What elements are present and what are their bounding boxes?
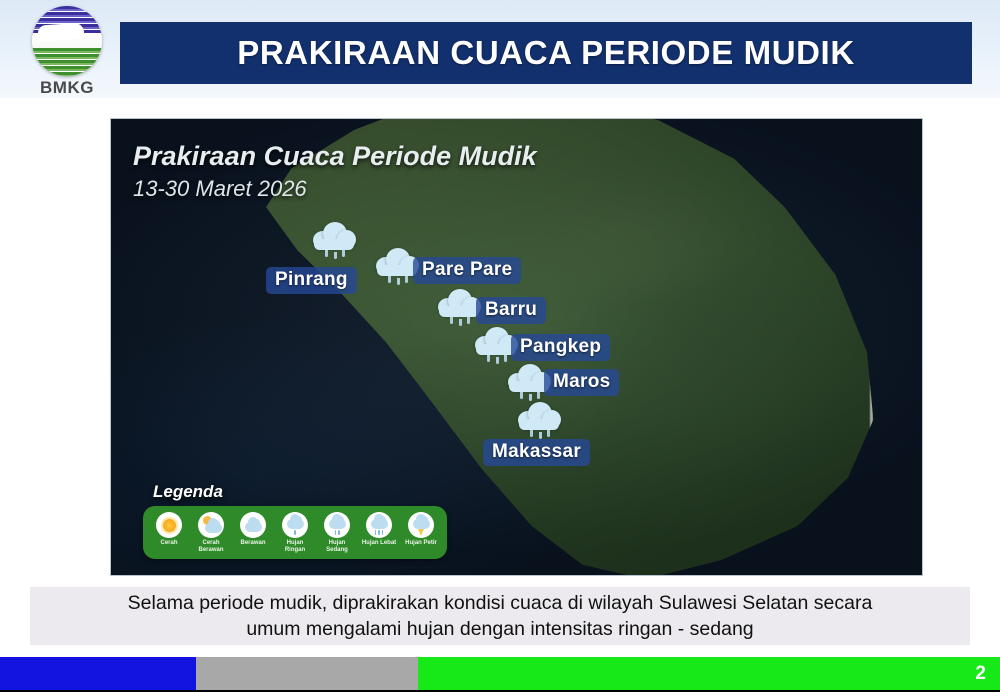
bmkg-logo: BMKG	[16, 4, 114, 104]
weather-icon-makassar	[516, 399, 562, 433]
thunderstorm-icon	[408, 512, 434, 538]
legend-item-cerah[interactable]: Cerah	[151, 512, 187, 554]
summary-caption: Selama periode mudik, diprakirakan kondi…	[30, 587, 970, 645]
city-label-pare-pare: Pare Pare	[413, 257, 521, 284]
caption-line-1: Selama periode mudik, diprakirakan kondi…	[128, 590, 873, 616]
caption-line-2: umum mengalami hujan dengan intensitas r…	[246, 616, 753, 642]
legend-label-berawan: Berawan	[240, 540, 265, 547]
city-label-maros: Maros	[544, 369, 619, 396]
legend-items-container: Cerah Cerah Berawan Berawan	[143, 506, 447, 559]
city-label-barru: Barru	[476, 297, 546, 324]
legend-item-hujan-petir[interactable]: Hujan Petir	[403, 512, 439, 554]
map-heading-title: Prakiraan Cuaca Periode Mudik	[133, 141, 537, 172]
footer-bar-grey	[196, 657, 418, 690]
page-number: 2	[975, 663, 986, 685]
legend-label-hujan-ringan: Hujan Ringan	[277, 540, 313, 554]
city-label-makassar: Makassar	[483, 439, 590, 466]
sun-icon	[156, 512, 182, 538]
footer-bar-green: 2	[418, 657, 1000, 690]
sun-cloud-icon	[198, 512, 224, 538]
page-title: PRAKIRAAN CUACA PERIODE MUDIK	[237, 34, 855, 72]
city-marker-pangkep[interactable]: Pangkep	[511, 334, 610, 361]
city-marker-pare-pare[interactable]: Pare Pare	[413, 257, 521, 284]
legend-title: Legenda	[153, 482, 447, 502]
map-heading: Prakiraan Cuaca Periode Mudik 13-30 Mare…	[133, 141, 537, 202]
rain-heavy-icon	[366, 512, 392, 538]
legend-item-hujan-sedang[interactable]: Hujan Sedang	[319, 512, 355, 554]
legend-item-berawan[interactable]: Berawan	[235, 512, 271, 554]
map-heading-date: 13-30 Maret 2026	[133, 176, 537, 202]
map-legend: Legenda Cerah Cerah Berawan Berawan	[143, 482, 447, 559]
city-label-pangkep: Pangkep	[511, 334, 610, 361]
rain-light-icon	[282, 512, 308, 538]
city-marker-maros[interactable]: Maros	[544, 369, 619, 396]
footer-color-bars: 2	[0, 657, 1000, 690]
weather-icon-pinrang	[311, 219, 357, 253]
bmkg-logo-text: BMKG	[16, 78, 118, 98]
legend-label-hujan-sedang: Hujan Sedang	[319, 540, 355, 554]
footer-bar-blue	[0, 657, 196, 690]
city-label-pinrang: Pinrang	[266, 267, 357, 294]
city-marker-makassar[interactable]: Makassar	[483, 439, 590, 466]
rain-moderate-icon	[324, 512, 350, 538]
city-marker-pinrang[interactable]: Pinrang	[266, 267, 357, 294]
legend-item-hujan-ringan[interactable]: Hujan Ringan	[277, 512, 313, 554]
bmkg-globe-icon	[32, 6, 102, 76]
legend-label-cerah-berawan: Cerah Berawan	[193, 540, 229, 554]
legend-item-hujan-lebat[interactable]: Hujan Lebat	[361, 512, 397, 554]
legend-label-hujan-lebat: Hujan Lebat	[362, 540, 396, 547]
legend-label-cerah: Cerah	[160, 540, 177, 547]
legend-item-cerah-berawan[interactable]: Cerah Berawan	[193, 512, 229, 554]
title-bar: PRAKIRAAN CUACA PERIODE MUDIK	[120, 22, 972, 84]
weather-map: Prakiraan Cuaca Periode Mudik 13-30 Mare…	[110, 118, 923, 576]
cloud-icon	[240, 512, 266, 538]
globe-land-band	[32, 48, 102, 76]
city-marker-barru[interactable]: Barru	[476, 297, 546, 324]
page-header: BMKG PRAKIRAAN CUACA PERIODE MUDIK	[0, 0, 1000, 98]
legend-label-hujan-petir: Hujan Petir	[405, 540, 437, 547]
